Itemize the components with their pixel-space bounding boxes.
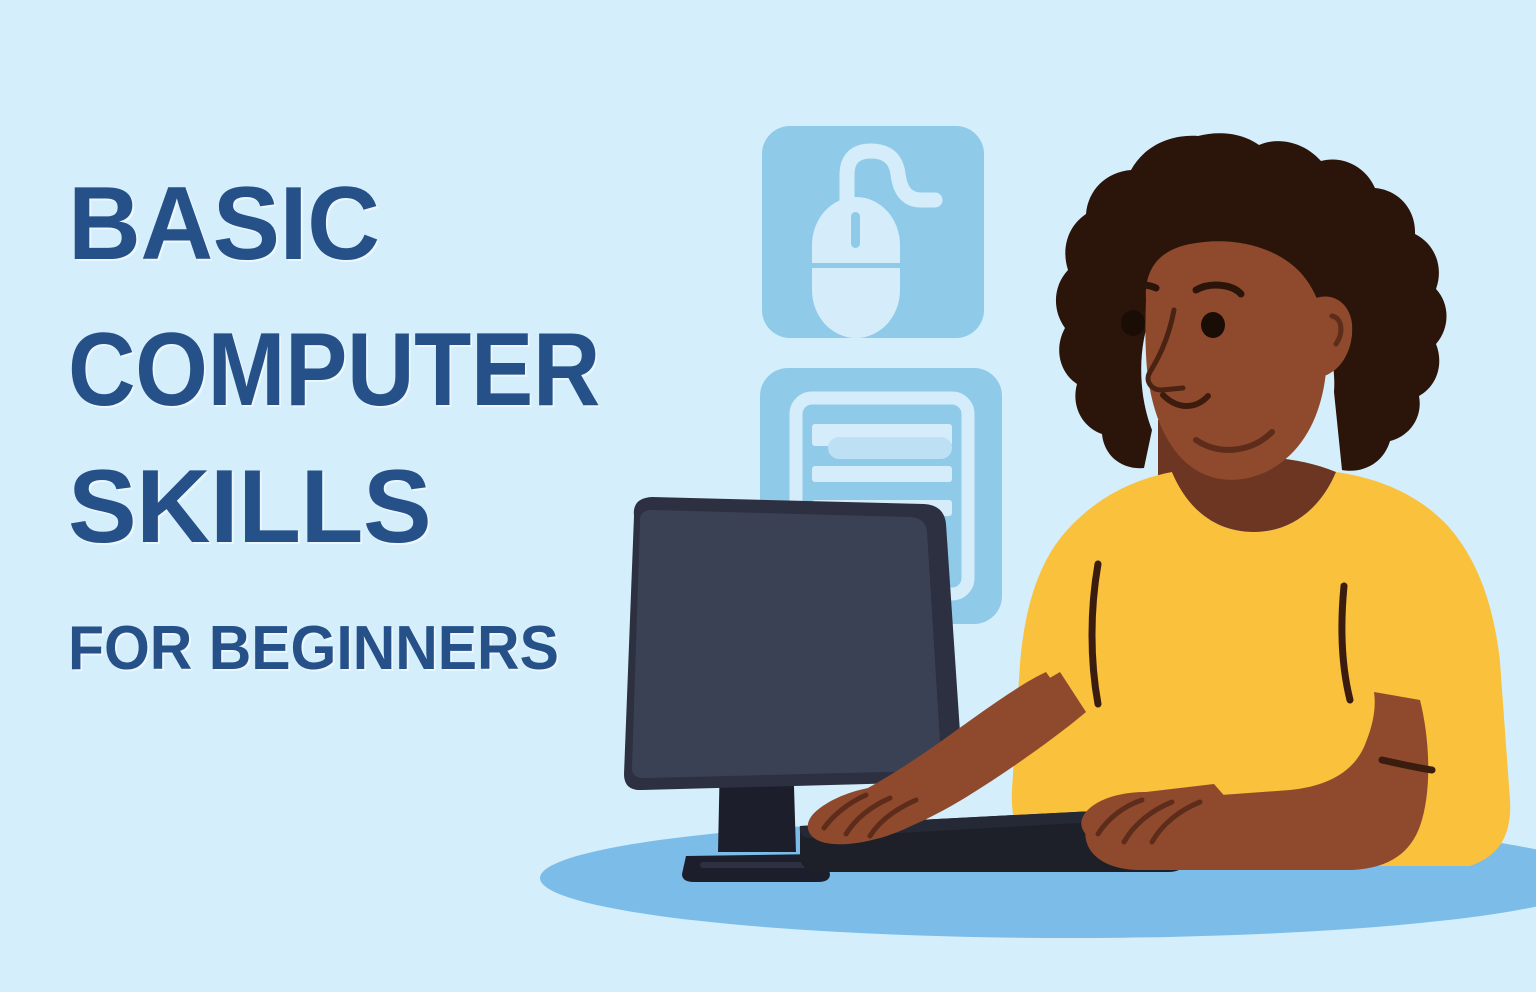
monitor-base-highlight [700, 862, 808, 868]
eye-right [1201, 312, 1225, 338]
poster-illustration [0, 0, 1536, 992]
eye-left [1121, 310, 1145, 336]
face [1145, 241, 1327, 480]
icon-card-mouse [762, 126, 984, 338]
monitor-panel [632, 510, 941, 778]
poster-canvas: BASIC COMPUTER SKILLS FOR BEGINNERS [0, 0, 1536, 992]
